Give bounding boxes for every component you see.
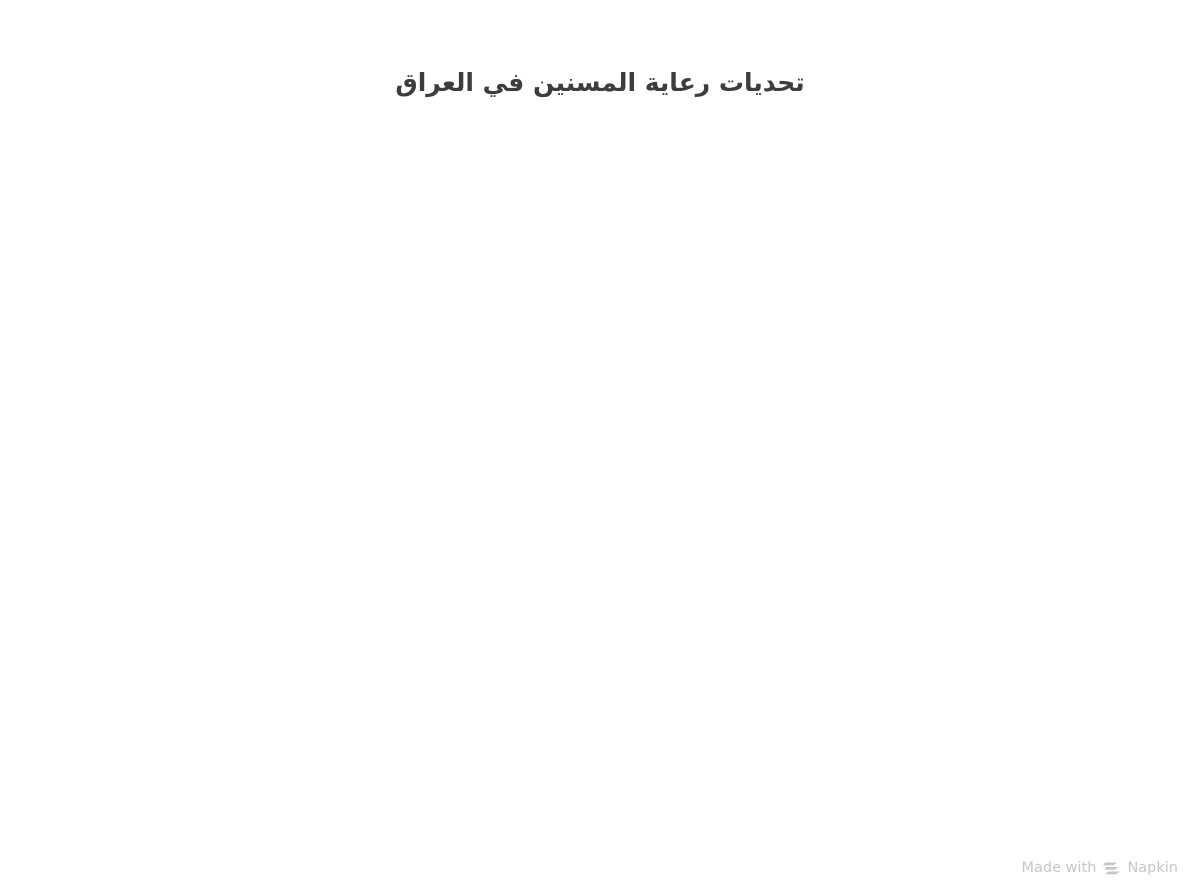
watermark-brand: Napkin bbox=[1127, 860, 1178, 876]
napkin-logo-icon bbox=[1103, 861, 1120, 876]
watermark: Made with Napkin bbox=[1022, 860, 1178, 876]
watermark-prefix: Made with bbox=[1022, 860, 1097, 876]
page-title: تحديات رعاية المسنين في العراق bbox=[0, 68, 1200, 97]
infographic-canvas: تحديات رعاية المسنين في العراق 87 bbox=[0, 0, 1200, 894]
